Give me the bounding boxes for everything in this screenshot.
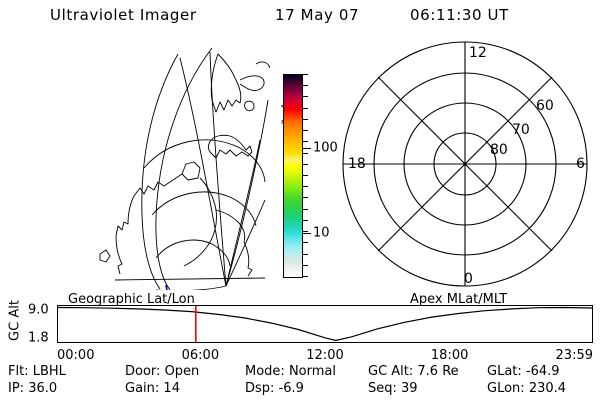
status-filter-value: LBHL xyxy=(33,364,66,379)
status-filter: Flt: LBHL xyxy=(8,364,66,379)
status-glat: GLat: -64.9 xyxy=(487,364,560,379)
colorbar-minor-tick xyxy=(302,141,308,142)
status-dsp-label: Dsp: xyxy=(245,381,274,396)
status-seq-value: 39 xyxy=(401,381,418,396)
status-glat-label: GLat: xyxy=(487,364,522,379)
strip-ytick-high: 9.0 xyxy=(28,303,49,318)
status-ip: IP: 36.0 xyxy=(8,381,57,396)
altitude-trace xyxy=(58,308,592,341)
strip-ytick-low: 1.8 xyxy=(28,331,49,346)
status-mode-label: Mode: xyxy=(245,364,285,379)
status-ip-value: 36.0 xyxy=(28,381,57,396)
status-seq-label: Seq: xyxy=(368,381,397,396)
colorbar-minor-tick xyxy=(302,265,308,266)
polar-spokes xyxy=(343,42,587,286)
strip-chart-svg xyxy=(58,306,592,342)
strip-chart-plot-area[interactable] xyxy=(57,305,593,343)
status-gcalt-label: GC Alt: xyxy=(368,364,413,379)
status-gain-label: Gain: xyxy=(125,381,159,396)
colorbar-minor-tick xyxy=(302,108,308,109)
strip-xtick-label: 06:00 xyxy=(182,348,219,363)
graticule-lines xyxy=(115,48,268,290)
strip-xtick-label: 18:00 xyxy=(431,348,468,363)
status-door-label: Door: xyxy=(125,364,160,379)
colorbar-minor-tick xyxy=(302,96,308,97)
colorbar-minor-tick xyxy=(302,175,308,176)
altitude-strip-chart[interactable]: GC Alt 9.0 1.8 xyxy=(0,305,600,345)
status-door-value: Open xyxy=(165,364,200,379)
colorbar-minor-tick xyxy=(302,197,308,198)
status-ip-label: IP: xyxy=(8,381,24,396)
status-gain-value: 14 xyxy=(163,381,180,396)
colorbar-gradient[interactable] xyxy=(283,74,303,278)
colorbar-minor-tick xyxy=(302,254,308,255)
uv-imager-display: Ultraviolet Imager 17 May 07 06:11:30 UT xyxy=(0,0,600,400)
colorbar-minor-tick xyxy=(302,209,308,210)
status-glat-value: -64.9 xyxy=(526,364,560,379)
coastline-outlines xyxy=(100,54,270,276)
strip-xtick-label: 00:00 xyxy=(57,348,94,363)
instrument-title: Ultraviolet Imager xyxy=(50,6,197,24)
colorbar-major-tick xyxy=(302,148,311,149)
mlt-label-12: 12 xyxy=(469,45,487,61)
colorbar-minor-tick xyxy=(302,85,308,86)
strip-xtick-label: 12:00 xyxy=(306,348,343,363)
colorbar-minor-tick xyxy=(302,276,308,277)
geographic-map-svg xyxy=(60,40,270,290)
colorbar-minor-tick xyxy=(302,242,308,243)
status-dsp: Dsp: -6.9 xyxy=(245,381,304,396)
status-dsp-value: -6.9 xyxy=(279,381,304,396)
observation-time: 06:11:30 UT xyxy=(410,6,509,24)
mlt-label-6: 6 xyxy=(576,156,585,172)
status-glon-value: 230.4 xyxy=(529,381,566,396)
colorbar-tick-label: 10 xyxy=(313,225,330,240)
mlat-label-80: 80 xyxy=(490,142,508,158)
status-glon: GLon: 230.4 xyxy=(487,381,566,396)
status-mode: Mode: Normal xyxy=(245,364,336,379)
status-seq: Seq: 39 xyxy=(368,381,418,396)
colorbar-minor-tick xyxy=(302,74,308,75)
status-filter-label: Flt: xyxy=(8,364,29,379)
apex-polar-panel[interactable]: 12 6 0 18 60 70 80 xyxy=(340,40,590,290)
mlat-label-70: 70 xyxy=(512,122,530,138)
colorbar-minor-tick xyxy=(302,164,308,165)
status-gain: Gain: 14 xyxy=(125,381,180,396)
colorbar-minor-tick xyxy=(302,119,308,120)
mlat-label-60: 60 xyxy=(536,98,554,114)
status-block: Flt: LBHL IP: 36.0 Door: Open Gain: 14 M… xyxy=(0,364,600,400)
apex-polar-svg: 12 6 0 18 60 70 80 xyxy=(340,40,590,290)
mlt-label-0: 0 xyxy=(464,271,473,287)
colorbar-minor-tick xyxy=(302,153,308,154)
header-bar: Ultraviolet Imager 17 May 07 06:11:30 UT xyxy=(0,6,600,30)
status-gcalt: GC Alt: 7.6 Re xyxy=(368,364,459,379)
geographic-map-panel[interactable] xyxy=(60,40,270,290)
colorbar-minor-tick xyxy=(302,220,308,221)
colorbar-minor-tick xyxy=(302,186,308,187)
status-door: Door: Open xyxy=(125,364,199,379)
status-glon-label: GLon: xyxy=(487,381,525,396)
colorbar-minor-tick xyxy=(302,130,308,131)
colorbar-tick-label: 100 xyxy=(313,140,338,155)
colorbar-major-tick xyxy=(302,233,311,234)
status-mode-value: Normal xyxy=(289,364,336,379)
strip-y-axis-label: GC Alt xyxy=(8,292,23,350)
observation-date: 17 May 07 xyxy=(275,6,359,24)
mlt-label-18: 18 xyxy=(348,156,366,172)
strip-xtick-label: 23:59 xyxy=(556,348,593,363)
status-gcalt-value: 7.6 Re xyxy=(417,364,458,379)
